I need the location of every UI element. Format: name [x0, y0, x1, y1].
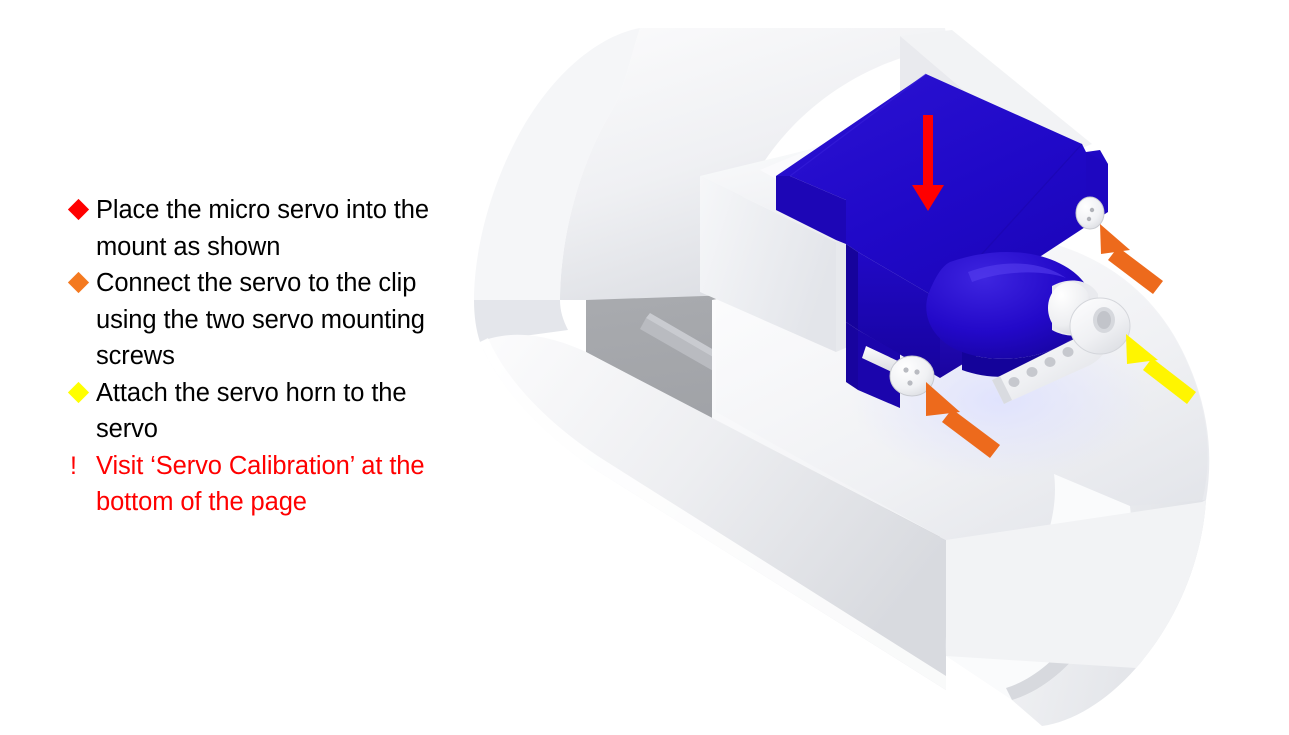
- deck-specular-glow: [850, 320, 1150, 480]
- clip-tail-inner: [946, 474, 1131, 700]
- screw-shaft-left: [862, 346, 900, 374]
- servo-barrel-highlight: [968, 263, 1066, 282]
- phone-clip-body: [474, 28, 1209, 726]
- screw-head-right: [1076, 197, 1104, 229]
- servo-mount-block: [700, 112, 960, 352]
- servo-horn-center-hole: [1093, 307, 1115, 333]
- yellow-arrow-icon: [1126, 334, 1196, 404]
- servo-top-seam-b: [940, 144, 1082, 300]
- clip-tail-rib-top: [1032, 616, 1065, 640]
- clip-inner-rib: [640, 318, 742, 384]
- mount-block-left: [700, 176, 836, 352]
- clip-tail-edge: [1006, 608, 1104, 700]
- screw-head-hole-3: [907, 380, 912, 385]
- yellow-arrow-shaft: [1143, 358, 1196, 404]
- screw-head-left: [890, 356, 934, 396]
- clip-front-lip-highlight: [480, 338, 946, 690]
- orange-lower-head: [926, 382, 960, 416]
- servo-top-seam-a: [790, 74, 926, 176]
- servo-horn-assembly: [992, 280, 1130, 404]
- clip-deck-front-wall: [946, 500, 1206, 668]
- exclamation-bullet-icon: !: [62, 448, 96, 484]
- screw-head-right-hole-2: [1087, 217, 1091, 221]
- servo-horn-hole-3: [1027, 367, 1038, 377]
- clip-nose: [474, 28, 640, 300]
- clip-upper-arch: [560, 28, 948, 300]
- servo-hub-face: [1048, 282, 1092, 334]
- list-item-label: Attach the servo horn to the servo: [96, 375, 436, 448]
- servo-ear-left: [846, 322, 858, 390]
- list-item-label: Visit ‘Servo Calibration’ at the bottom …: [96, 448, 436, 521]
- screw-head-hole-1: [903, 367, 908, 372]
- orange-arrow-lower-icon: [926, 382, 1000, 458]
- screw-head-right-hole-1: [1090, 208, 1094, 212]
- clip-inner-pad: [586, 288, 940, 540]
- servo-barrel-underside: [962, 334, 1078, 377]
- clip-tail-outer: [1012, 500, 1206, 726]
- screw-head-left-outline: [890, 356, 934, 396]
- clip-deck-top: [716, 238, 1208, 540]
- yellow-arrow-head: [1126, 334, 1158, 364]
- exclamation-glyph: !: [70, 448, 77, 484]
- servo-ear-right: [1086, 152, 1108, 212]
- mount-block-lip: [760, 112, 918, 180]
- servo-face-left-edge: [846, 244, 858, 330]
- clip-nose-edge: [474, 300, 568, 342]
- servo-horn-arm: [992, 304, 1112, 404]
- orange-lower-shaft: [942, 409, 1000, 458]
- list-item-label: Place the micro servo into the mount as …: [96, 192, 436, 265]
- servo-gearbox-barrel: [926, 252, 1092, 359]
- screw-head-hole-2: [914, 369, 919, 374]
- annotation-arrows: [912, 115, 1196, 458]
- servo-ear-left-face: [858, 330, 900, 408]
- servo-horn-tip-edge: [992, 376, 1012, 404]
- servo-mounting-screw-right: [1076, 197, 1104, 229]
- servo-mount-backwall: [900, 30, 1092, 212]
- instruction-list: Place the micro servo into the mount as …: [62, 192, 462, 521]
- servo-mounting-screw-left: [862, 346, 934, 396]
- servo-horn-center-bore: [1097, 311, 1111, 329]
- orange-arrow-upper-icon: [1100, 224, 1163, 294]
- list-item-warning: ! Visit ‘Servo Calibration’ at the botto…: [62, 448, 462, 521]
- servo-top-plate: [776, 74, 1108, 300]
- servo-plate-notch: [776, 176, 846, 244]
- mount-block-top: [700, 146, 960, 242]
- red-diamond-bullet-icon: [62, 192, 96, 228]
- clip-tail-rib: [1026, 622, 1062, 652]
- mount-block-right: [836, 206, 960, 352]
- list-item: Connect the servo to the clip using the …: [62, 265, 462, 375]
- servo-horn-hole-2: [1045, 357, 1056, 367]
- orange-diamond-bullet-icon: [62, 265, 96, 301]
- red-arrow-shaft: [923, 115, 933, 190]
- micro-servo-body: [776, 74, 1108, 408]
- orange-upper-shaft: [1108, 247, 1163, 294]
- list-item: Attach the servo horn to the servo: [62, 375, 462, 448]
- servo-front-right: [940, 258, 1038, 378]
- servo-horn-hole-4: [1009, 377, 1020, 387]
- servo-horn-hub-end: [1070, 298, 1130, 354]
- list-item-label: Connect the servo to the clip using the …: [96, 265, 436, 375]
- clip-front-lip: [480, 335, 946, 690]
- red-down-arrow-icon: [912, 115, 944, 211]
- servo-hub-barrel: [1052, 280, 1098, 335]
- servo-front-left: [858, 252, 940, 378]
- servo-horn-hub-outline: [1070, 298, 1130, 354]
- orange-upper-head: [1100, 224, 1130, 254]
- clip-deck: [712, 238, 1209, 656]
- mount-backwall-top: [900, 30, 1092, 162]
- list-item: Place the micro servo into the mount as …: [62, 192, 462, 265]
- mount-backwall-face: [900, 36, 1048, 212]
- red-arrow-head: [912, 185, 944, 211]
- screw-head-right-outline: [1076, 197, 1104, 229]
- servo-horn-hole-1: [1063, 347, 1074, 357]
- clip-inner-rib-top: [646, 313, 745, 374]
- yellow-diamond-bullet-icon: [62, 375, 96, 411]
